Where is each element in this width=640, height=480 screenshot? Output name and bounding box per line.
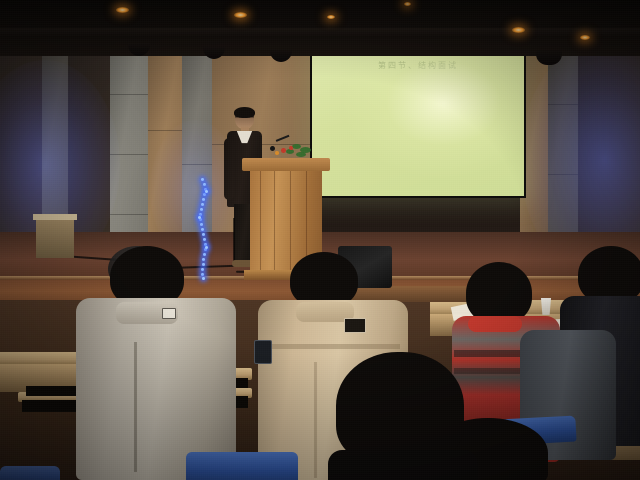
chair-left — [0, 466, 60, 480]
attendee-foreground — [336, 352, 464, 480]
ceiling — [0, 0, 640, 56]
attendee-tan-jacket-shoulder-patch — [344, 318, 366, 333]
attendee-foreground-hair — [336, 352, 464, 464]
ceiling-spotlight-1 — [116, 7, 129, 13]
side-table — [36, 218, 74, 258]
presenter-arm — [224, 138, 234, 200]
attendee-red-sweater-hair — [466, 262, 532, 324]
attendee-foreground-shoulders — [328, 450, 478, 480]
ceiling-spotlight-3 — [327, 15, 335, 19]
presenter-hair — [234, 107, 255, 118]
attendee-grey-jacket-label — [162, 308, 176, 319]
mobile-phone — [254, 340, 272, 364]
conference-hall-photo: CM CHINA 求职技巧与方法 第四节、结构面试 — [0, 0, 640, 480]
attendee-grey-jacket — [72, 246, 252, 480]
microphone — [270, 138, 292, 152]
attendee-red-sweater-collar — [468, 316, 522, 332]
chair-center — [186, 452, 298, 480]
ceiling-spotlight-5 — [512, 27, 525, 33]
ceiling-spotlight-4 — [404, 2, 411, 6]
ceiling-spotlight-6 — [580, 35, 590, 40]
ceiling-beam — [0, 28, 640, 38]
slide-body-text: 第四节、结构面试 — [312, 60, 524, 71]
ceiling-spotlight-2 — [234, 12, 247, 18]
